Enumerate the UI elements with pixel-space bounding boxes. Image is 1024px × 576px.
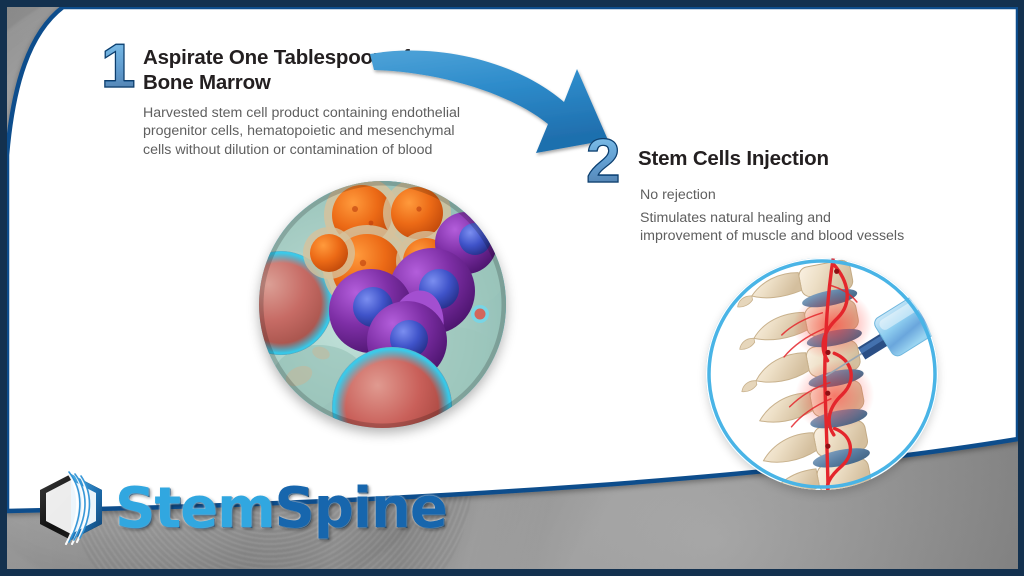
stem-cell-image: [259, 181, 506, 428]
logo-wordmark: StemSpine: [115, 472, 447, 546]
step-1-number: 1: [101, 36, 135, 98]
arrow-icon: [368, 36, 618, 171]
step-2-heading: Stem Cells Injection: [638, 146, 938, 171]
step-2-body-line1: No rejection: [640, 186, 910, 204]
infographic-frame: 1 Aspirate One Tablespoon of Bone Marrow…: [0, 0, 1024, 576]
spine-injection-illustration: [706, 258, 938, 490]
stem-cell-micrograph: [259, 181, 506, 428]
spine-injection-image: [706, 258, 938, 490]
curved-flow-arrow: [368, 36, 618, 171]
stemspine-logo[interactable]: StemSpine: [30, 470, 375, 548]
infographic-content: 1 Aspirate One Tablespoon of Bone Marrow…: [0, 0, 1024, 576]
step-2-number: 2: [586, 131, 620, 193]
logo-text-spine: Spine: [274, 476, 446, 541]
logo-text-stem: Stem: [115, 476, 274, 541]
step-2-body-line2: Stimulates natural healing and improveme…: [640, 209, 910, 246]
